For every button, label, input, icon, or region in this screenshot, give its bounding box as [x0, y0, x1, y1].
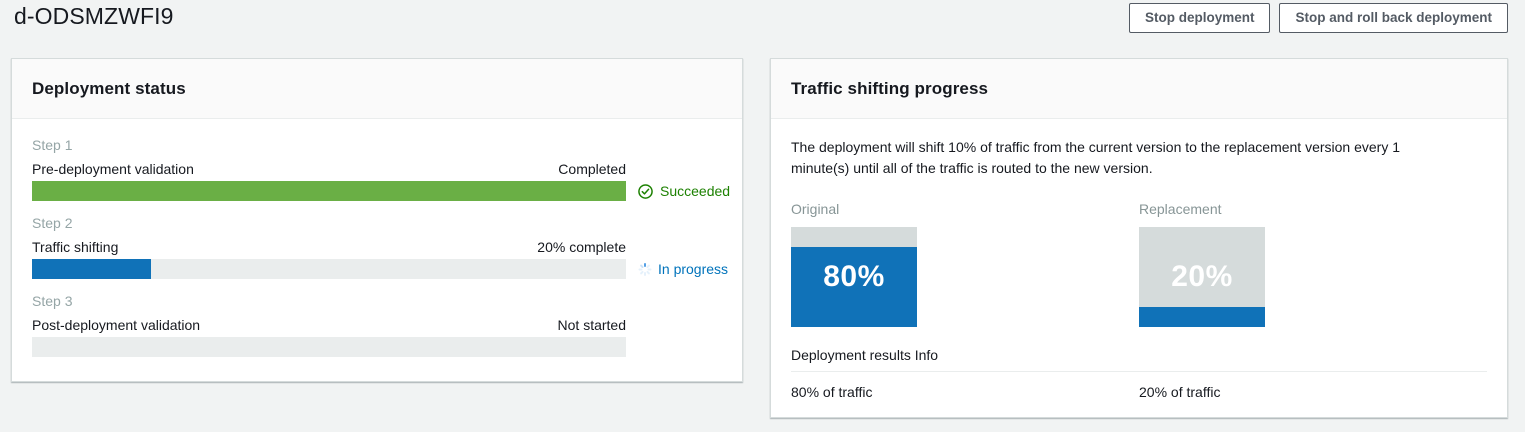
- step-status: In progress: [638, 261, 728, 277]
- step-progress-fill: [32, 259, 151, 279]
- step-name: Post-deployment validation: [32, 317, 200, 333]
- deployment-status-header: Deployment status: [12, 59, 742, 119]
- page-header: d-ODSMZWFI9 Stop deployment Stop and rol…: [0, 0, 1525, 46]
- step-number: Step 2: [32, 215, 722, 231]
- step-progress-bar: [32, 259, 626, 279]
- step-progress-bar: [32, 337, 626, 357]
- deployment-status-panel: Deployment status Step 1 Pre-deployment …: [11, 58, 743, 382]
- replacement-traffic-result: 20% of traffic: [1139, 384, 1487, 400]
- traffic-shifting-title: Traffic shifting progress: [791, 79, 988, 99]
- original-traffic-bar: 80%: [791, 227, 917, 327]
- header-actions: Stop deployment Stop and roll back deplo…: [1129, 3, 1508, 33]
- traffic-shifting-header: Traffic shifting progress: [771, 59, 1507, 119]
- step-status-label: In progress: [658, 261, 728, 277]
- step-progress-label: 20% complete: [537, 239, 626, 255]
- original-traffic-value: 80%: [791, 227, 917, 327]
- deployment-results-title: Deployment results Info: [791, 347, 1487, 372]
- column-label: Replacement: [1139, 201, 1487, 217]
- deployment-step: Step 1 Pre-deployment validation Complet…: [32, 137, 722, 201]
- traffic-shifting-progress-panel: Traffic shifting progress The deployment…: [770, 58, 1508, 418]
- step-progress-label: Not started: [558, 317, 626, 333]
- step-progress-label: Completed: [558, 161, 626, 177]
- original-traffic-result: 80% of traffic: [791, 384, 1139, 400]
- step-progress-bar: [32, 181, 626, 201]
- step-name: Pre-deployment validation: [32, 161, 194, 177]
- step-number: Step 3: [32, 293, 722, 309]
- step-name: Traffic shifting: [32, 239, 118, 255]
- traffic-distribution: Original 80% Replacement 20%: [791, 201, 1487, 327]
- stop-and-roll-back-deployment-button[interactable]: Stop and roll back deployment: [1279, 3, 1508, 33]
- column-label: Original: [791, 201, 1139, 217]
- deployment-step: Step 3 Post-deployment validation Not st…: [32, 293, 722, 357]
- page-title: d-ODSMZWFI9: [14, 3, 174, 30]
- traffic-shifting-body: The deployment will shift 10% of traffic…: [771, 119, 1507, 400]
- step-progress-fill: [32, 181, 626, 201]
- stop-deployment-button[interactable]: Stop deployment: [1129, 3, 1271, 33]
- check-circle-icon: [638, 184, 653, 199]
- replacement-traffic-bar: 20%: [1139, 227, 1265, 327]
- traffic-column-original: Original 80%: [791, 201, 1139, 327]
- spinner-icon: [638, 263, 651, 276]
- step-status-label: Succeeded: [660, 183, 730, 199]
- step-number: Step 1: [32, 137, 722, 153]
- deployment-status-title: Deployment status: [32, 79, 186, 99]
- deployment-step: Step 2 Traffic shifting 20% complete In: [32, 215, 722, 279]
- deployment-status-body: Step 1 Pre-deployment validation Complet…: [12, 119, 742, 357]
- deployment-results-row: 80% of traffic 20% of traffic: [791, 384, 1487, 400]
- replacement-traffic-value: 20%: [1139, 227, 1265, 327]
- step-status: Succeeded: [638, 183, 730, 199]
- traffic-column-replacement: Replacement 20%: [1139, 201, 1487, 327]
- traffic-shifting-description: The deployment will shift 10% of traffic…: [791, 137, 1441, 179]
